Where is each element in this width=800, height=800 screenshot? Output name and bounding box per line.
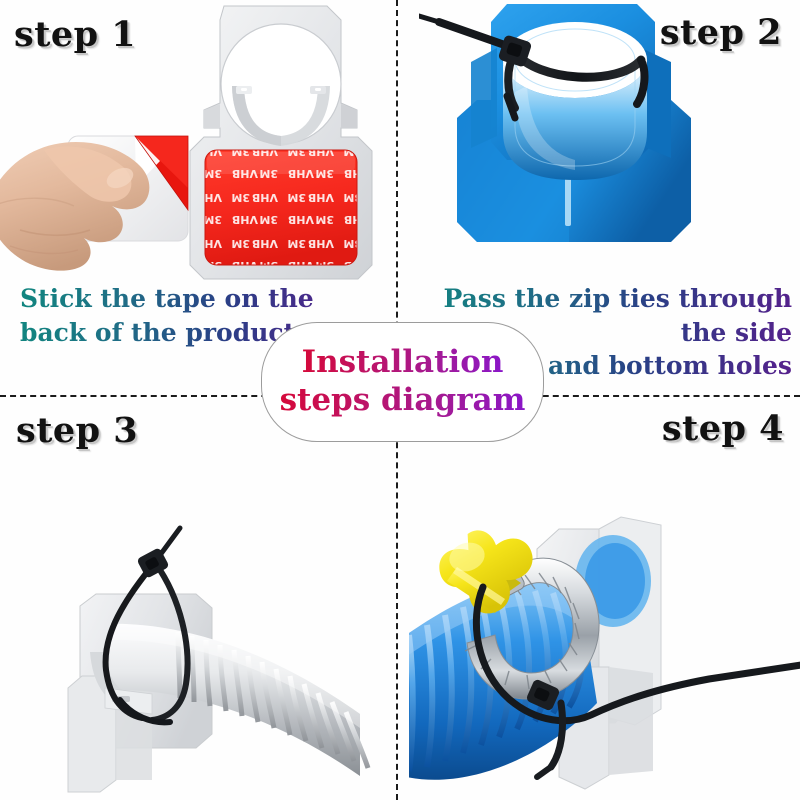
installation-diagram: 3M VHB 3M VHB — [0, 0, 800, 800]
step-3-illustration — [60, 518, 396, 800]
step-4-label: step 4 — [662, 408, 784, 449]
step-2-label: step 2 — [660, 12, 782, 53]
quadrant-step-4: step 4 Insert the metal buckle and tight… — [399, 398, 800, 800]
step-1-label: step 1 — [14, 14, 136, 55]
quadrant-step-3: step 3 Insert the hose and attach the ca… — [0, 398, 396, 800]
step-2-caption-line-2: and bottom holes — [548, 351, 792, 380]
step-4-illustration — [409, 503, 800, 800]
step-3-label: step 3 — [16, 410, 138, 451]
center-title-line-1: Installation — [302, 344, 504, 382]
step-1-caption-line-2: back of the product — [20, 318, 295, 347]
step-1-caption-line-1: Stick the tape on the — [20, 284, 314, 313]
hand — [0, 142, 149, 271]
step-3-artwork — [60, 518, 396, 800]
center-title-line-2: steps diagram — [280, 382, 526, 420]
step-4-artwork — [409, 503, 800, 800]
vhb-tape-pad — [205, 150, 357, 265]
center-title-badge: Installation steps diagram — [261, 322, 544, 442]
